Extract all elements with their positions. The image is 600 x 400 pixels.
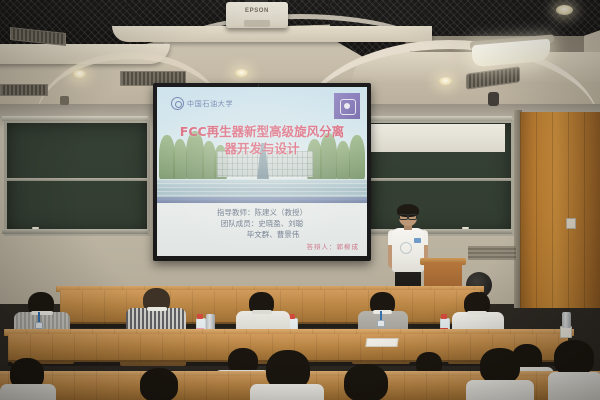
slide-team-label: 团队成员：史晓盈、刘聪 bbox=[157, 218, 367, 229]
student-row3-6 bbox=[128, 368, 188, 400]
downlight-1 bbox=[72, 70, 87, 79]
slide-title-line1: FCC再生器新型高级旋风分离 bbox=[180, 124, 344, 139]
chalkboard-right-top-rail bbox=[366, 116, 512, 121]
projection-screen[interactable]: 中国石油大学 FCC再生器新型高级旋风分离 器开发与设计 指导教师：陈建义（教授… bbox=[157, 87, 367, 256]
person-head bbox=[344, 364, 388, 400]
downlight-3 bbox=[438, 77, 453, 86]
shirt-collar bbox=[31, 311, 53, 315]
glasses-icon bbox=[399, 214, 417, 218]
presenter-chest-print bbox=[414, 238, 421, 243]
ceiling-vent-3 bbox=[0, 84, 48, 96]
slide-university-logo: 中国石油大学 bbox=[171, 97, 233, 110]
ceiling-soffit-center bbox=[112, 26, 432, 42]
id-badge bbox=[377, 320, 385, 327]
slide-decorative-badge bbox=[334, 93, 360, 119]
bottle-cap bbox=[441, 314, 447, 319]
thermos-flask bbox=[562, 312, 571, 328]
shirt-collar bbox=[147, 307, 167, 311]
downlight-4 bbox=[556, 5, 573, 15]
wall-vent bbox=[468, 246, 516, 260]
lecture-hall-scene: EPSON bbox=[0, 0, 600, 400]
chalkboard-left-chalk-rail bbox=[2, 229, 148, 234]
ceiling-projector: EPSON bbox=[226, 2, 288, 28]
id-badge bbox=[35, 322, 43, 329]
person-head bbox=[554, 340, 594, 376]
shirt-collar bbox=[252, 310, 272, 314]
downlight-2 bbox=[234, 69, 249, 78]
chalkboard-left-top-rail bbox=[2, 116, 148, 121]
student-row3-3 bbox=[330, 364, 400, 400]
slide-title: FCC再生器新型高级旋风分离 器开发与设计 bbox=[163, 123, 361, 157]
paper-stack bbox=[365, 338, 398, 347]
person-head bbox=[140, 368, 178, 400]
projector-brand-label: EPSON bbox=[226, 8, 288, 14]
whiteboard-strip bbox=[371, 124, 505, 152]
presenter-shirt-logo bbox=[400, 242, 412, 254]
student-row3-1 bbox=[0, 358, 56, 400]
projector-lens bbox=[244, 20, 270, 27]
slide-footer-presenter: 答辩人：郭柳成 bbox=[307, 241, 360, 251]
person-torso bbox=[466, 380, 534, 400]
university-name-label: 中国石油大学 bbox=[187, 99, 233, 109]
slide-advisor-label: 指导教师：陈建义（教授） bbox=[217, 208, 307, 217]
person-torso bbox=[0, 384, 56, 400]
slide-credits: 指导教师：陈建义（教授） 团队成员：史晓盈、刘聪 毕文群、曹景伟 bbox=[157, 207, 367, 240]
chalk-piece bbox=[32, 227, 39, 229]
wall-socket bbox=[566, 218, 576, 229]
shirt-collar bbox=[373, 310, 392, 314]
bottle-cap bbox=[197, 314, 203, 319]
university-crest-icon bbox=[171, 97, 184, 110]
student-row3-4 bbox=[466, 348, 534, 400]
chalkboard-left bbox=[4, 120, 150, 236]
wall-speaker-right bbox=[488, 92, 499, 106]
wood-panel-wall bbox=[520, 112, 600, 308]
shirt-collar bbox=[467, 311, 487, 315]
student-row3-2 bbox=[250, 350, 324, 400]
student-row3-5 bbox=[548, 340, 600, 400]
person-torso bbox=[548, 372, 600, 400]
person-head bbox=[480, 348, 520, 384]
wall-speaker-left bbox=[60, 96, 69, 105]
chalk-piece bbox=[462, 227, 469, 229]
person-torso bbox=[250, 384, 324, 400]
slide-title-line2: 器开发与设计 bbox=[163, 140, 361, 157]
slide-team-label-2: 毕文群、曹景伟 bbox=[157, 229, 367, 240]
